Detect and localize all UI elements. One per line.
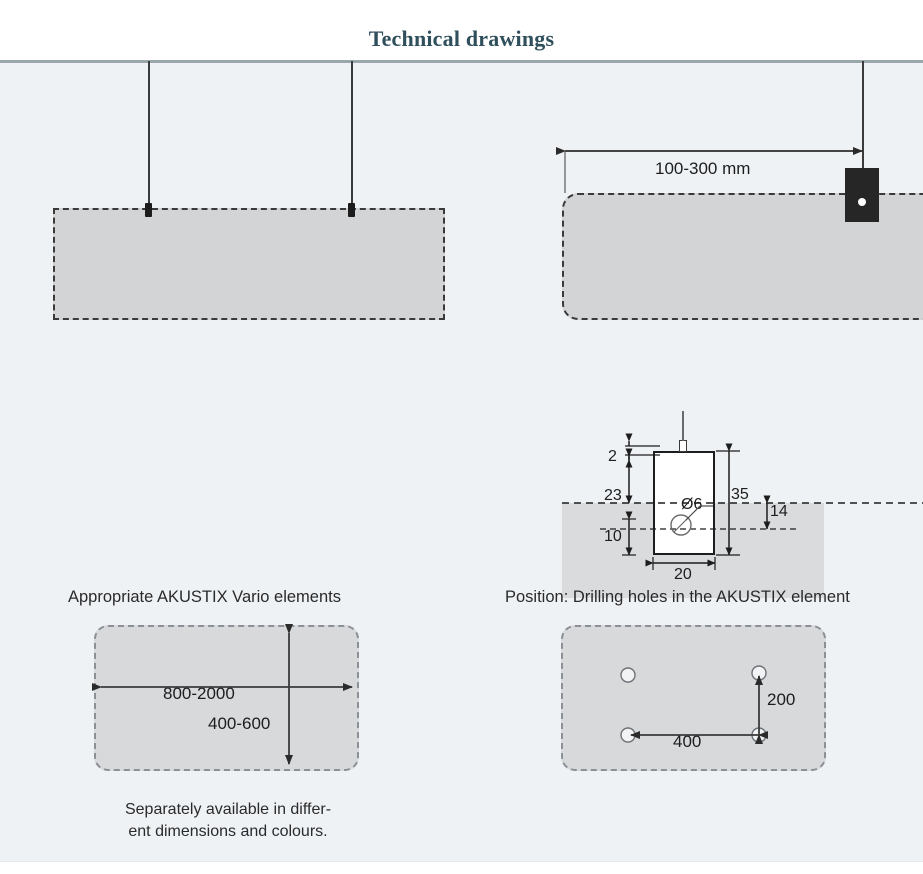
- dim-drill-horizontal: 400: [673, 732, 701, 752]
- dim-clip-height: 35: [731, 486, 749, 504]
- drawings-canvas: 100-300 mm 2 23 10 35 14 20 Ø6 Appropria…: [0, 63, 923, 861]
- dim-element-height: 400-600: [208, 714, 270, 734]
- dim-suspension-offset: 100-300 mm: [655, 159, 750, 179]
- clip-stem: [679, 440, 687, 452]
- caption-element-sizes: Appropriate AKUSTIX Vario elements: [68, 588, 341, 607]
- dim-insert-depth: 14: [770, 503, 788, 521]
- mounting-clip-side: [845, 168, 879, 222]
- dim-top-gap: 2: [608, 448, 617, 466]
- panel-clip-left: [145, 203, 152, 217]
- clip-detail-cable: [682, 411, 684, 441]
- panel-clip-right: [348, 203, 355, 217]
- header-strip: Technical drawings: [0, 0, 923, 62]
- dim-upper-depth: 23: [604, 487, 622, 505]
- dim-lower-depth: 10: [604, 528, 622, 546]
- dim-drill-vertical: 200: [767, 690, 795, 710]
- footnote-element-sizes: Separately available in differ- ent dime…: [68, 799, 388, 842]
- dim-element-width: 800-2000: [163, 684, 235, 704]
- dim-clip-width: 20: [674, 566, 692, 584]
- bottom-divider: [0, 861, 923, 862]
- dim-hole-diameter: Ø6: [681, 496, 702, 514]
- technical-drawings-page: Technical drawings 100-300 mm: [0, 0, 923, 874]
- footnote-line-2: ent dimensions and colours.: [68, 821, 388, 843]
- footnote-line-1: Separately available in differ-: [68, 799, 388, 821]
- caption-drill-positions: Position: Drilling holes in the AKUSTIX …: [505, 588, 850, 607]
- clip-screw-hole: [858, 198, 866, 206]
- page-title: Technical drawings: [0, 26, 923, 52]
- akustix-panel-front: [53, 208, 445, 320]
